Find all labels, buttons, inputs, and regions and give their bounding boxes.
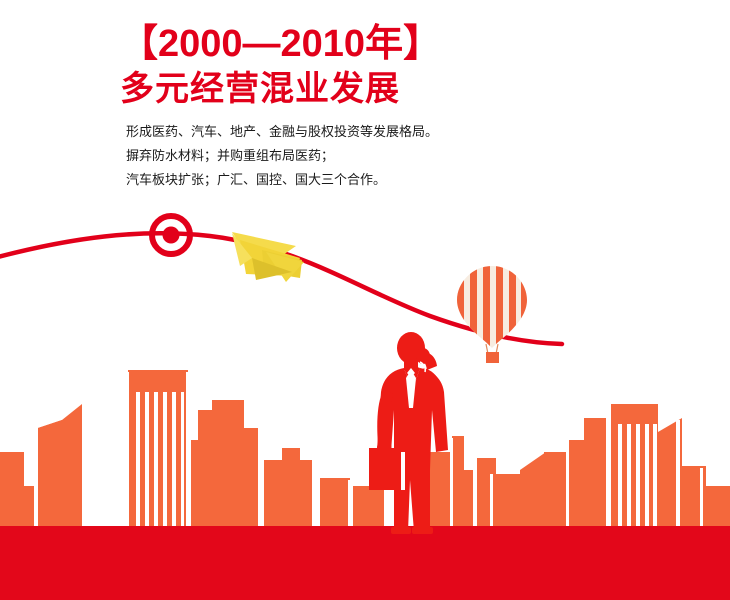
body-line-3: 汽车板块扩张；广汇、国控、国大三个合作。 <box>126 168 438 192</box>
title-subtitle: 多元经营混业发展 <box>120 68 441 110</box>
title-year-range: 【2000—2010年】 <box>120 22 441 66</box>
body-line-2: 摒弃防水材料；并购重组布局医药； <box>126 144 438 168</box>
body-line-1: 形成医药、汽车、地产、金融与股权投资等发展格局。 <box>126 120 438 144</box>
page-title: 【2000—2010年】 多元经营混业发展 <box>120 22 441 110</box>
body-text: 形成医药、汽车、地产、金融与股权投资等发展格局。 摒弃防水材料；并购重组布局医药… <box>126 120 438 192</box>
poster-canvas: 【2000—2010年】 多元经营混业发展 形成医药、汽车、地产、金融与股权投资… <box>0 0 730 600</box>
